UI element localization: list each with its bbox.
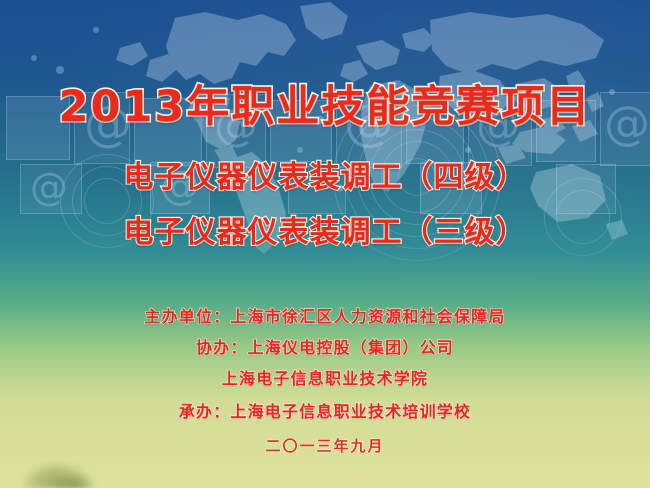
presentation-slide: @ @ @ @ @ @ @ 2013年职业技能竞赛项目 电子仪器仪表装调工（四级… [0, 0, 650, 488]
slide-content: 2013年职业技能竞赛项目 电子仪器仪表装调工（四级） 电子仪器仪表装调工（三级… [0, 0, 650, 488]
subtitle-level-three: 电子仪器仪表装调工（三级） [0, 207, 650, 251]
organizer-undertaker: 承办：上海电子信息职业技术培训学校 [0, 398, 650, 422]
slide-date: 二〇一三年九月 [0, 435, 650, 456]
subtitle-level-four: 电子仪器仪表装调工（四级） [0, 152, 650, 196]
page-title: 2013年职业技能竞赛项目 [0, 72, 650, 134]
organizer-college: 上海电子信息职业技术学院 [0, 365, 650, 389]
organizer-coorganizer: 协办：上海仪电控股（集团）公司 [0, 334, 650, 358]
organizer-host: 主办单位：上海市徐汇区人力资源和社会保障局 [0, 303, 650, 327]
